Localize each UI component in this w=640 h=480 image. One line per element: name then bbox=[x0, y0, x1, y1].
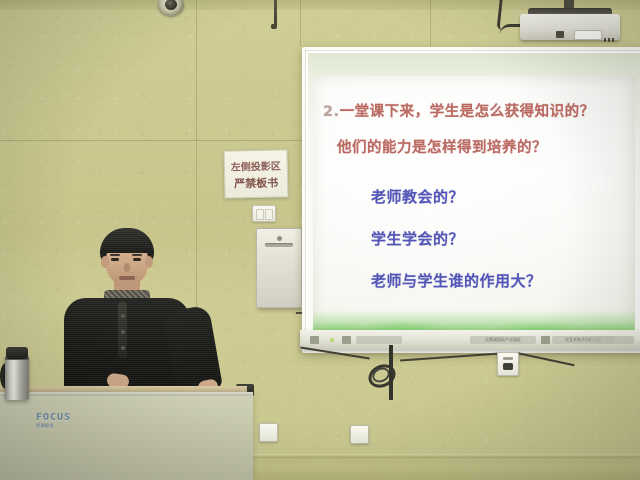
wall-sign-line-1: 左侧投影区 bbox=[231, 157, 281, 173]
lecturer bbox=[52, 228, 222, 400]
lecturer-brow-right bbox=[132, 254, 142, 256]
lecturer-hair-fringe bbox=[102, 236, 152, 253]
lecturer-nose bbox=[124, 263, 130, 272]
slide-line-3: 老师教会的？ bbox=[371, 186, 464, 207]
slide-line-1: 2.一堂课下来，学生是怎么获得知识的？ bbox=[323, 100, 595, 121]
wall-sign-no-writing: 左侧投影区 严禁板书 bbox=[224, 149, 289, 198]
lecturer-button-1 bbox=[121, 314, 125, 318]
tray-label-blank-1 bbox=[356, 336, 402, 344]
wall-sign-line-2: 严禁板书 bbox=[234, 174, 278, 191]
podium bbox=[0, 396, 253, 480]
thermos-cap bbox=[6, 347, 28, 359]
podium-brand-text: FOCUS bbox=[36, 412, 71, 423]
thermos-body bbox=[5, 355, 29, 400]
tray-label-blank-2 bbox=[590, 336, 634, 344]
slide-line-2: 他们的能力是怎样得到培养的？ bbox=[337, 136, 547, 157]
wall-socket-under-board[interactable] bbox=[497, 352, 519, 376]
wall-box-slot bbox=[265, 243, 293, 247]
thermos-flask bbox=[3, 345, 31, 400]
slide-line-1-number: 2. bbox=[323, 104, 340, 120]
slide-line-1-text: 一堂课下来，学生是怎么获得知识的？ bbox=[340, 104, 595, 120]
tray-mark-1 bbox=[310, 336, 319, 344]
ceiling-projector bbox=[520, 8, 620, 42]
projector-label bbox=[574, 30, 602, 40]
wall-equipment-box[interactable] bbox=[256, 228, 302, 308]
projector-badge bbox=[556, 31, 564, 38]
dome-camera-icon bbox=[158, 0, 184, 16]
slide-text-block: 2.一堂课下来，学生是怎么获得知识的？ 他们的能力是怎样得到培养的？ 老师教会的… bbox=[313, 76, 635, 332]
lecturer-brow-left bbox=[110, 254, 120, 256]
light-switch-button-2[interactable] bbox=[265, 209, 273, 220]
light-switch[interactable] bbox=[252, 205, 276, 222]
tray-power-led bbox=[330, 338, 334, 342]
socket-slot bbox=[503, 357, 513, 360]
whiteboard-tray[interactable]: 天鹅湖国际产业园区 交互式电子白板系统 bbox=[300, 330, 640, 350]
projector-vents bbox=[604, 38, 616, 42]
tray-mark-2 bbox=[342, 336, 351, 344]
tray-mark-3 bbox=[541, 336, 550, 344]
lecturer-ear-right bbox=[145, 256, 153, 268]
wall-socket-right[interactable] bbox=[350, 425, 369, 444]
tray-label-1: 天鹅湖国际产业园区 bbox=[470, 336, 536, 344]
wall-seam-vertical-3 bbox=[300, 0, 301, 46]
lecturer-eye-right bbox=[133, 258, 141, 261]
lecturer-eye-left bbox=[111, 258, 119, 261]
podium-brand-subtext: 视源股份 bbox=[36, 423, 71, 429]
ceiling-rod-tip bbox=[271, 24, 277, 29]
lecturer-button-2 bbox=[121, 330, 125, 334]
projected-slide: 2.一堂课下来，学生是怎么获得知识的？ 他们的能力是怎样得到培养的？ 老师教会的… bbox=[313, 76, 635, 332]
wall-socket-left[interactable] bbox=[259, 423, 278, 442]
projector-body bbox=[520, 14, 620, 40]
slide-line-5: 老师与学生谁的作用大？ bbox=[371, 270, 542, 291]
lecturer-ear-left bbox=[101, 256, 109, 268]
lecturer-button-3 bbox=[121, 346, 125, 350]
projector-cable-bend bbox=[500, 24, 522, 41]
slide-line-4: 学生学会的？ bbox=[371, 228, 464, 249]
lecturer-mouth bbox=[119, 276, 135, 280]
podium-brand-logo: FOCUS 视源股份 bbox=[36, 412, 71, 429]
wall-seam-vertical-2 bbox=[430, 0, 431, 46]
classroom-scene: 左侧投影区 严禁板书 2.一堂课下来，学生是怎么获得知识的？ 他们的能力是怎样得… bbox=[0, 0, 640, 480]
wall-box-lock-icon bbox=[277, 236, 282, 241]
board-support-post bbox=[389, 345, 393, 400]
ceiling-rod bbox=[274, 0, 277, 26]
socket-plug-hole bbox=[503, 363, 513, 370]
light-switch-button-1[interactable] bbox=[256, 209, 264, 220]
interactive-whiteboard[interactable]: 2.一堂课下来，学生是怎么获得知识的？ 他们的能力是怎样得到培养的？ 老师教会的… bbox=[302, 47, 640, 353]
